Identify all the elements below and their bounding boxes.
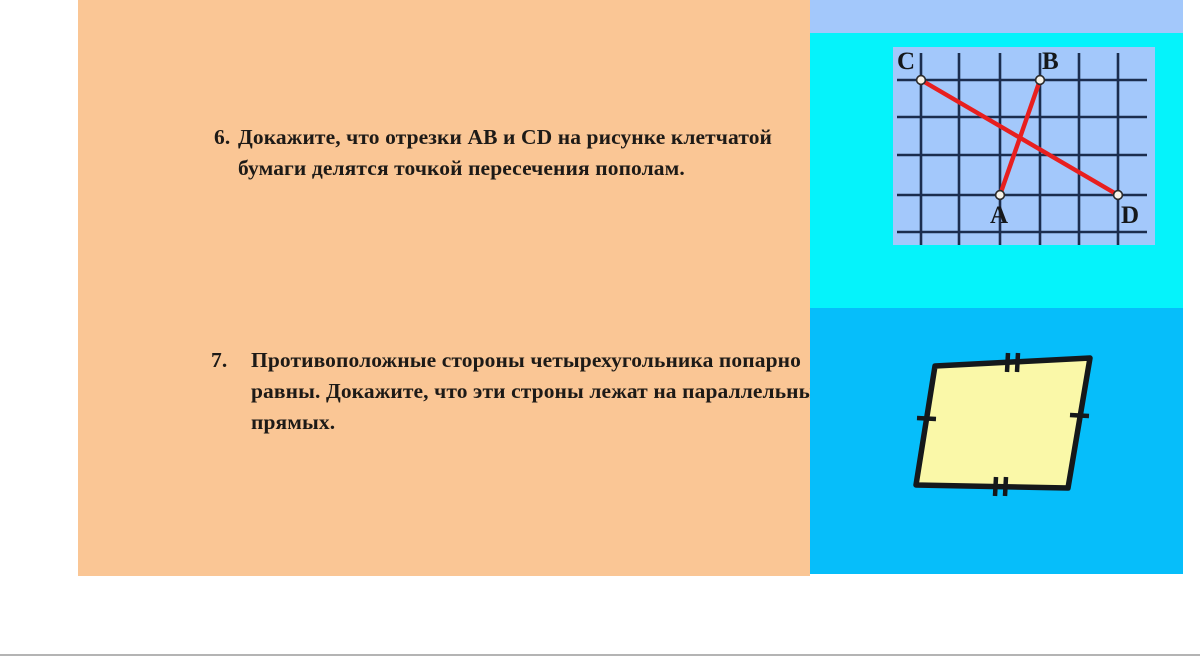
grid-figure-panel: A B C D: [893, 47, 1155, 245]
tick-left-1: [917, 418, 936, 419]
task-text: Противоположные стороны четырехугольника…: [251, 345, 851, 438]
top-lightblue-band: [810, 0, 1183, 33]
slide-canvas: 6. Докажите, что отрезки AB и CD на рису…: [0, 0, 1200, 663]
segment-cd: [921, 80, 1118, 195]
figures-column: A B C D: [810, 0, 1183, 574]
tick-bottom-2: [1005, 477, 1006, 496]
point-c-marker: [917, 76, 926, 85]
parallelogram-shape: [916, 358, 1090, 488]
task-text: Докажите, что отрезки AB и CD на рисунке…: [238, 122, 814, 184]
segments-group: [921, 80, 1118, 195]
task-number: 6.: [214, 122, 238, 184]
tick-right-1: [1070, 415, 1089, 416]
point-label-b: B: [1042, 48, 1059, 75]
point-d-marker: [1114, 191, 1123, 200]
point-b-marker: [1036, 76, 1045, 85]
parallelogram-figure-svg: [810, 308, 1183, 574]
grid-figure-block: A B C D: [810, 33, 1183, 308]
task-item-6: 6. Докажите, что отрезки AB и CD на рису…: [214, 122, 814, 184]
grid-figure-svg: A B C D: [893, 47, 1155, 245]
tick-top-1: [1007, 353, 1008, 372]
text-panel: 6. Докажите, что отрезки AB и CD на рису…: [78, 0, 810, 576]
parallelogram-figure-block: [810, 308, 1183, 574]
point-label-c: C: [897, 48, 915, 75]
grid-lines: [897, 53, 1147, 245]
tick-top-2: [1017, 353, 1018, 372]
bottom-divider: [0, 654, 1200, 656]
tick-bottom-1: [995, 477, 996, 496]
point-label-d: D: [1121, 202, 1139, 229]
point-a-marker: [996, 191, 1005, 200]
task-number: 7.: [211, 345, 251, 438]
point-label-a: A: [990, 202, 1008, 229]
task-item-7: 7. Противоположные стороны четырехугольн…: [211, 345, 851, 438]
